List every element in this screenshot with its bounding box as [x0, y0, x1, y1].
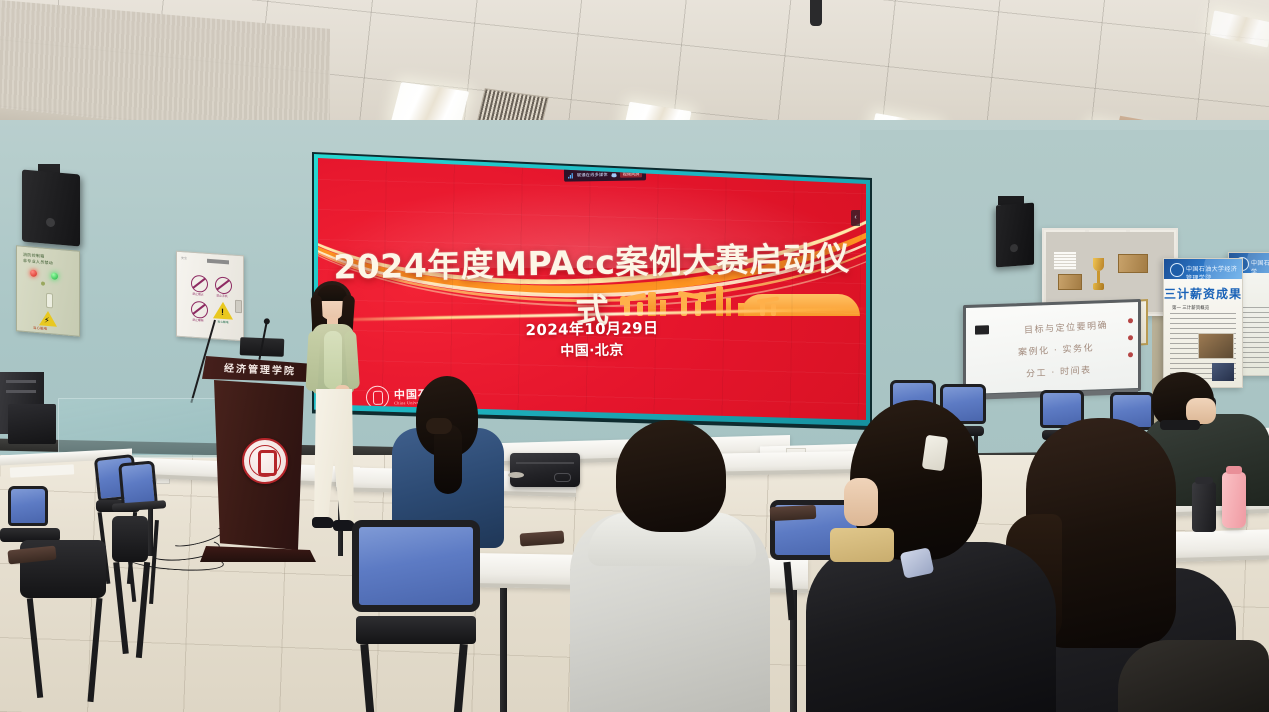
safety-label: 禁止烟火 [187, 291, 209, 297]
university-seal-icon [366, 386, 389, 409]
whiteboard-magnet [1128, 318, 1133, 323]
podium-label: 经济管理学院 [224, 359, 297, 377]
control-box-label-2: 非专业人员禁动 [23, 258, 53, 266]
safety-sign-panel: 安全 禁止烟火 禁止手机 禁止攀爬 当心触电 [176, 251, 244, 342]
trophy-icon [1092, 258, 1105, 292]
classroom-photo: 消防控制箱 非专业人员禁动 当心触电 安全 禁止烟火 禁止手机 禁止攀爬 当心触… [0, 0, 1269, 712]
poster-title: 三计薪资成果 [1164, 285, 1242, 302]
whiteboard-magnet [1128, 335, 1133, 340]
books [1054, 252, 1076, 270]
student-foreground-dark [1118, 640, 1269, 712]
podium: 经济管理学院 [206, 356, 310, 568]
safety-panel-header-bar [207, 259, 229, 265]
whiteboard-note-line: 案例化 · 实务化 [1018, 341, 1094, 359]
poster-subtitle: 第一 三计薪资概览 [1172, 305, 1209, 311]
fire-control-box[interactable]: 消防控制箱 非专业人员禁动 当心触电 [16, 245, 80, 337]
whiteboard[interactable]: 目标与定位要明确 案例化 · 实务化 分工 · 时间表 [963, 299, 1141, 397]
safety-panel-corner-note: 安全 [181, 256, 187, 260]
award-plaque [1118, 254, 1148, 273]
cable-grommet [508, 472, 524, 478]
poster-header: 中国石油大学经济管理学院 [1164, 259, 1242, 279]
school-emblem-icon [242, 438, 288, 484]
podium-body [208, 380, 308, 550]
podium-top-panel: 经济管理学院 [202, 356, 314, 382]
no-open-flame-icon [191, 275, 208, 293]
signal-bars-icon [568, 172, 574, 178]
whiteboard-magnet [1128, 352, 1133, 357]
control-box-warning-text: 当心触电 [33, 325, 47, 331]
presenter-pants [314, 389, 354, 521]
monitor [8, 404, 56, 444]
cloud-icon [611, 171, 617, 177]
ceiling-camera [810, 0, 822, 26]
wall-speaker-right-icon [996, 203, 1034, 268]
university-seal-icon [1170, 263, 1184, 277]
desk-leg [500, 588, 507, 712]
podium-base [200, 546, 316, 562]
poster-header-text: 中国石油大学经济管理学院 [1186, 264, 1242, 279]
indicator-lamp-green [51, 272, 58, 280]
award-plaque [1058, 274, 1082, 290]
control-box-switch[interactable] [46, 293, 53, 309]
student-grey-hoodie [570, 420, 770, 712]
no-climbing-icon [191, 301, 208, 319]
presenter [300, 281, 364, 555]
whiteboard-note-line: 目标与定位要明确 [1024, 318, 1108, 336]
indicator-lamp-red [30, 269, 37, 277]
safety-label: 禁止手机 [211, 293, 233, 299]
student-black-jacket-clip [806, 400, 1056, 712]
whiteboard-note-line: 分工 · 时间表 [1026, 363, 1092, 380]
poster-banner: 中国石油大学经济管理学院 三计薪资成果 第一 三计薪资概览 [1163, 258, 1243, 388]
screen-side-tab-icon[interactable]: ‹ [851, 210, 860, 226]
poster-header-text: 中国石油大学 [1251, 258, 1269, 273]
status-network-label: 联通在线多媒体 [577, 171, 608, 178]
safety-label: 禁止攀爬 [187, 317, 209, 323]
panel-latch[interactable] [235, 300, 242, 313]
electric-hazard-icon [39, 310, 57, 327]
hair-clip [922, 435, 949, 472]
electric-hazard-icon [213, 301, 233, 319]
poster-photo [1198, 333, 1234, 359]
no-mobile-icon [215, 276, 232, 294]
whiteboard-eraser[interactable] [975, 325, 989, 334]
wall-speaker-left-icon [22, 169, 80, 246]
indicator-lamp-amber [41, 281, 45, 285]
